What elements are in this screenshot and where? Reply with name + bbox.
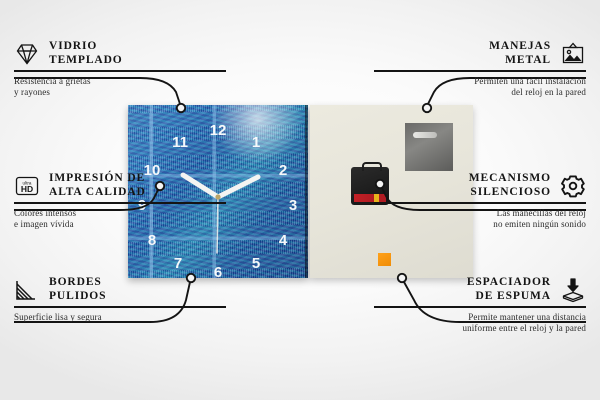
feature-hd-print: ultra HD IMPRESIÓN DE ALTA CALIDAD Color… [14, 172, 226, 231]
feature-title-line1: MANEJAS [489, 40, 551, 54]
feature-divider [14, 306, 226, 308]
feature-title-line1: VIDRIO [49, 40, 123, 54]
feature-divider [14, 70, 226, 72]
feature-subtitle-line1: Colores intensos [14, 208, 226, 220]
feature-subtitle-line2: no emiten ningún sonido [374, 219, 586, 231]
ultra-hd-icon: ultra HD [14, 173, 40, 199]
feature-subtitle-line2: e imagen vívida [14, 219, 226, 231]
feature-title-line1: MECANISMO [469, 172, 551, 186]
feature-divider [14, 202, 226, 204]
feature-title-line2: DE ESPUMA [467, 290, 551, 304]
feature-subtitle-line1: Superficie lisa y segura [14, 312, 226, 324]
connector-dot-tempered-glass [177, 104, 185, 112]
feature-title-line2: SILENCIOSO [469, 186, 551, 200]
polished-edges-icon [14, 277, 40, 303]
gear-icon [560, 173, 586, 199]
feature-metal-hooks: MANEJAS METAL Permiten una fácil instala… [374, 40, 586, 99]
infographic-canvas: 12 1 2 3 4 5 6 7 8 9 10 11 [0, 0, 600, 400]
ultra-hd-large: HD [21, 184, 33, 194]
feature-title-line2: METAL [489, 54, 551, 68]
feature-divider [374, 202, 586, 204]
feature-title-line1: BORDES [49, 276, 106, 290]
feature-silent-mechanism: MECANISMO SILENCIOSO Las manecillas del … [374, 172, 586, 231]
feature-subtitle-line2: uniforme entre el reloj y la pared [374, 323, 586, 335]
feature-divider [374, 70, 586, 72]
feature-tempered-glass: VIDRIO TEMPLADO Resistencia a grietas y … [14, 40, 226, 99]
feature-title-line1: IMPRESIÓN DE [49, 172, 146, 186]
feature-foam-spacer: ESPACIADOR DE ESPUMA Permite mantener un… [374, 276, 586, 335]
feature-polished-edges: BORDES PULIDOS Superficie lisa y segura [14, 276, 226, 323]
feature-subtitle-line1: Las manecillas del reloj [374, 208, 586, 220]
feature-title-line1: ESPACIADOR [467, 276, 551, 290]
feature-subtitle-line2: y rayones [14, 87, 226, 99]
feature-subtitle-line1: Permiten una fácil instalación [374, 76, 586, 88]
diamond-icon [14, 41, 40, 67]
feature-title-line2: PULIDOS [49, 290, 106, 304]
feature-subtitle-line1: Permite mantener una distancia [374, 312, 586, 324]
feature-subtitle-line2: del reloj en la pared [374, 87, 586, 99]
connector-dot-metal-hooks [423, 104, 431, 112]
foam-spacer-icon [560, 277, 586, 303]
feature-title-line2: TEMPLADO [49, 54, 123, 68]
feature-divider [374, 306, 586, 308]
feature-title-line2: ALTA CALIDAD [49, 186, 146, 200]
picture-frame-hanger-icon [560, 41, 586, 67]
feature-subtitle-line1: Resistencia a grietas [14, 76, 226, 88]
